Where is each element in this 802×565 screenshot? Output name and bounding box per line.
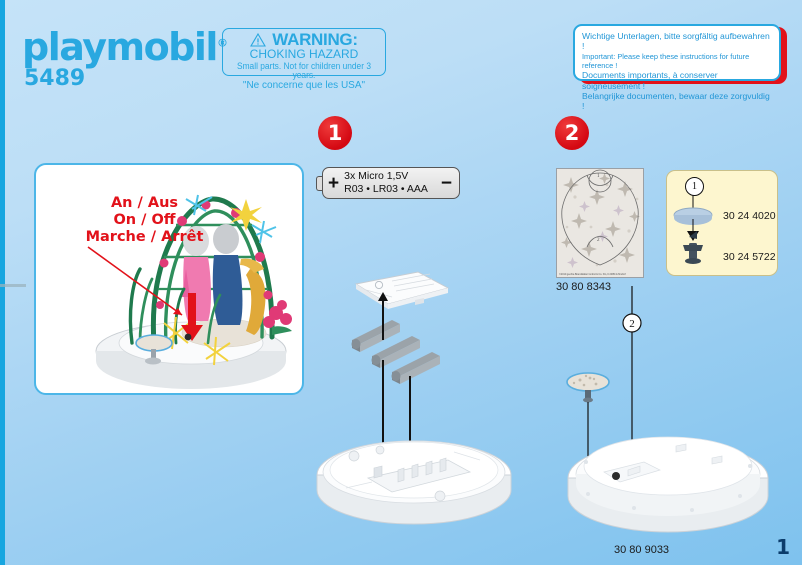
- on-off-label: An / Aus On / Off Marche / Arrêt: [72, 195, 217, 246]
- step-badge-1: 1: [318, 116, 352, 150]
- sticker-sheet: 1 2 ©2013 geobra Brandstätter GmbH & Co.…: [556, 168, 644, 278]
- warning-usa-note: "Ne concerne que les USA": [222, 80, 386, 91]
- step2-insert-arrow-head: [581, 495, 595, 508]
- warning-box: WARNING: CHOKING HAZARD Small parts. Not…: [222, 28, 386, 76]
- base-part-number: 30 80 9033: [614, 544, 669, 556]
- left-edge-strip: [0, 0, 5, 565]
- part-number-disc: 30 24 4020: [723, 210, 776, 222]
- instruction-sheet: playmobil® 5489 WARNING: CHOKING HAZARD …: [0, 0, 802, 565]
- sticker-sheet-pattern-icon: 1 2: [557, 169, 643, 277]
- battery-spec-line2: R03 • LR03 • AAA: [344, 183, 428, 195]
- battery-base-unit: [317, 441, 511, 524]
- sticker-part-number: 30 80 8343: [556, 281, 611, 293]
- parts-list-box: 1 30 24 4020 30 24 5722: [666, 170, 778, 276]
- base-plate-unit: [568, 437, 768, 532]
- aaa-batteries: [352, 320, 441, 384]
- notice-line-nl: Belangrijke documenten, bewaar deze zorg…: [582, 91, 772, 112]
- battery-minus-sign: −: [441, 174, 452, 193]
- power-switch-dot: [612, 472, 620, 480]
- parts-callout-1: 1: [685, 177, 704, 196]
- on-off-label-en: On / Off: [72, 212, 217, 229]
- battery-plus-sign: +: [328, 174, 339, 193]
- left-edge-tick: [0, 284, 26, 287]
- lamp-disc-part: [567, 373, 609, 402]
- battery-spec-label: + 3x Micro 1,5V R03 • LR03 • AAA −: [322, 167, 460, 199]
- step-badge-2: 2: [555, 116, 589, 150]
- assembly-arrows-step1: [377, 292, 416, 464]
- battery-spec-text: 3x Micro 1,5V R03 • LR03 • AAA: [344, 170, 441, 196]
- part-number-stand: 30 24 5722: [723, 251, 776, 263]
- logo-text: playmobil: [22, 25, 217, 69]
- warning-hazard: CHOKING HAZARD: [223, 48, 385, 61]
- important-notice-box: Wichtige Unterlagen, bitte sorgfältig au…: [573, 24, 781, 81]
- warning-detail: Small parts. Not for children under 3 ye…: [229, 62, 380, 82]
- on-off-label-fr: Marche / Arrêt: [72, 229, 217, 246]
- notice-line-en: Important: Please keep these instruction…: [582, 52, 772, 70]
- on-off-label-de: An / Aus: [72, 195, 217, 212]
- battery-spec-line1: 3x Micro 1,5V: [344, 170, 408, 182]
- page-number: 1: [776, 535, 790, 559]
- warning-triangle-icon: [250, 33, 266, 47]
- notice-line-de: Wichtige Unterlagen, bitte sorgfältig au…: [582, 31, 772, 52]
- playmobil-logo: playmobil®: [22, 28, 226, 66]
- warning-title: WARNING:: [272, 31, 357, 48]
- sticker-copyright-text: ©2013 geobra Brandstätter GmbH & Co. KG,…: [559, 273, 641, 276]
- battery-cover-plate: [356, 272, 448, 309]
- flower-arch-illustration-panel: An / Aus On / Off Marche / Arrêt: [34, 163, 304, 395]
- product-number: 5489: [24, 66, 85, 91]
- svg-text:2: 2: [629, 318, 635, 330]
- notice-line-fr: Documents importants, à conserver soigne…: [582, 70, 772, 91]
